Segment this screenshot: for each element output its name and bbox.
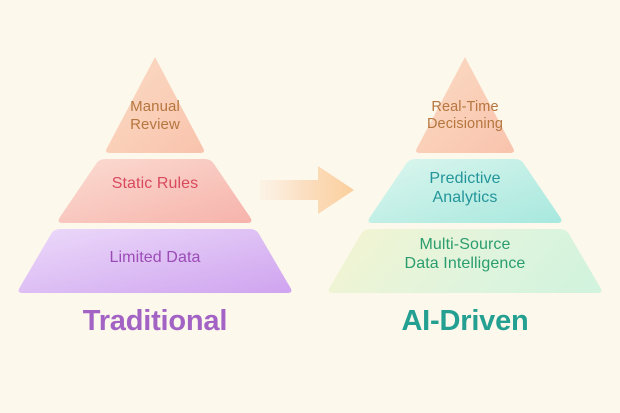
tier-shape-predictive-analytics	[369, 159, 562, 223]
tier-shape-limited-data	[19, 229, 292, 293]
tier-shape-real-time-decisioning	[416, 57, 514, 153]
arrow-shape	[260, 166, 354, 214]
pyramid-caption-traditional: Traditional	[0, 305, 310, 338]
pyramid-caption-ai-driven: AI-Driven	[310, 305, 620, 338]
tier-shape-manual-review	[106, 57, 204, 153]
diagram-canvas: Manual Review Static Rules Limited Data …	[0, 0, 620, 413]
tier-shape-static-rules	[59, 159, 252, 223]
arrow-icon	[250, 150, 370, 230]
tier-shape-multi-source-data-intelligence	[329, 229, 602, 293]
